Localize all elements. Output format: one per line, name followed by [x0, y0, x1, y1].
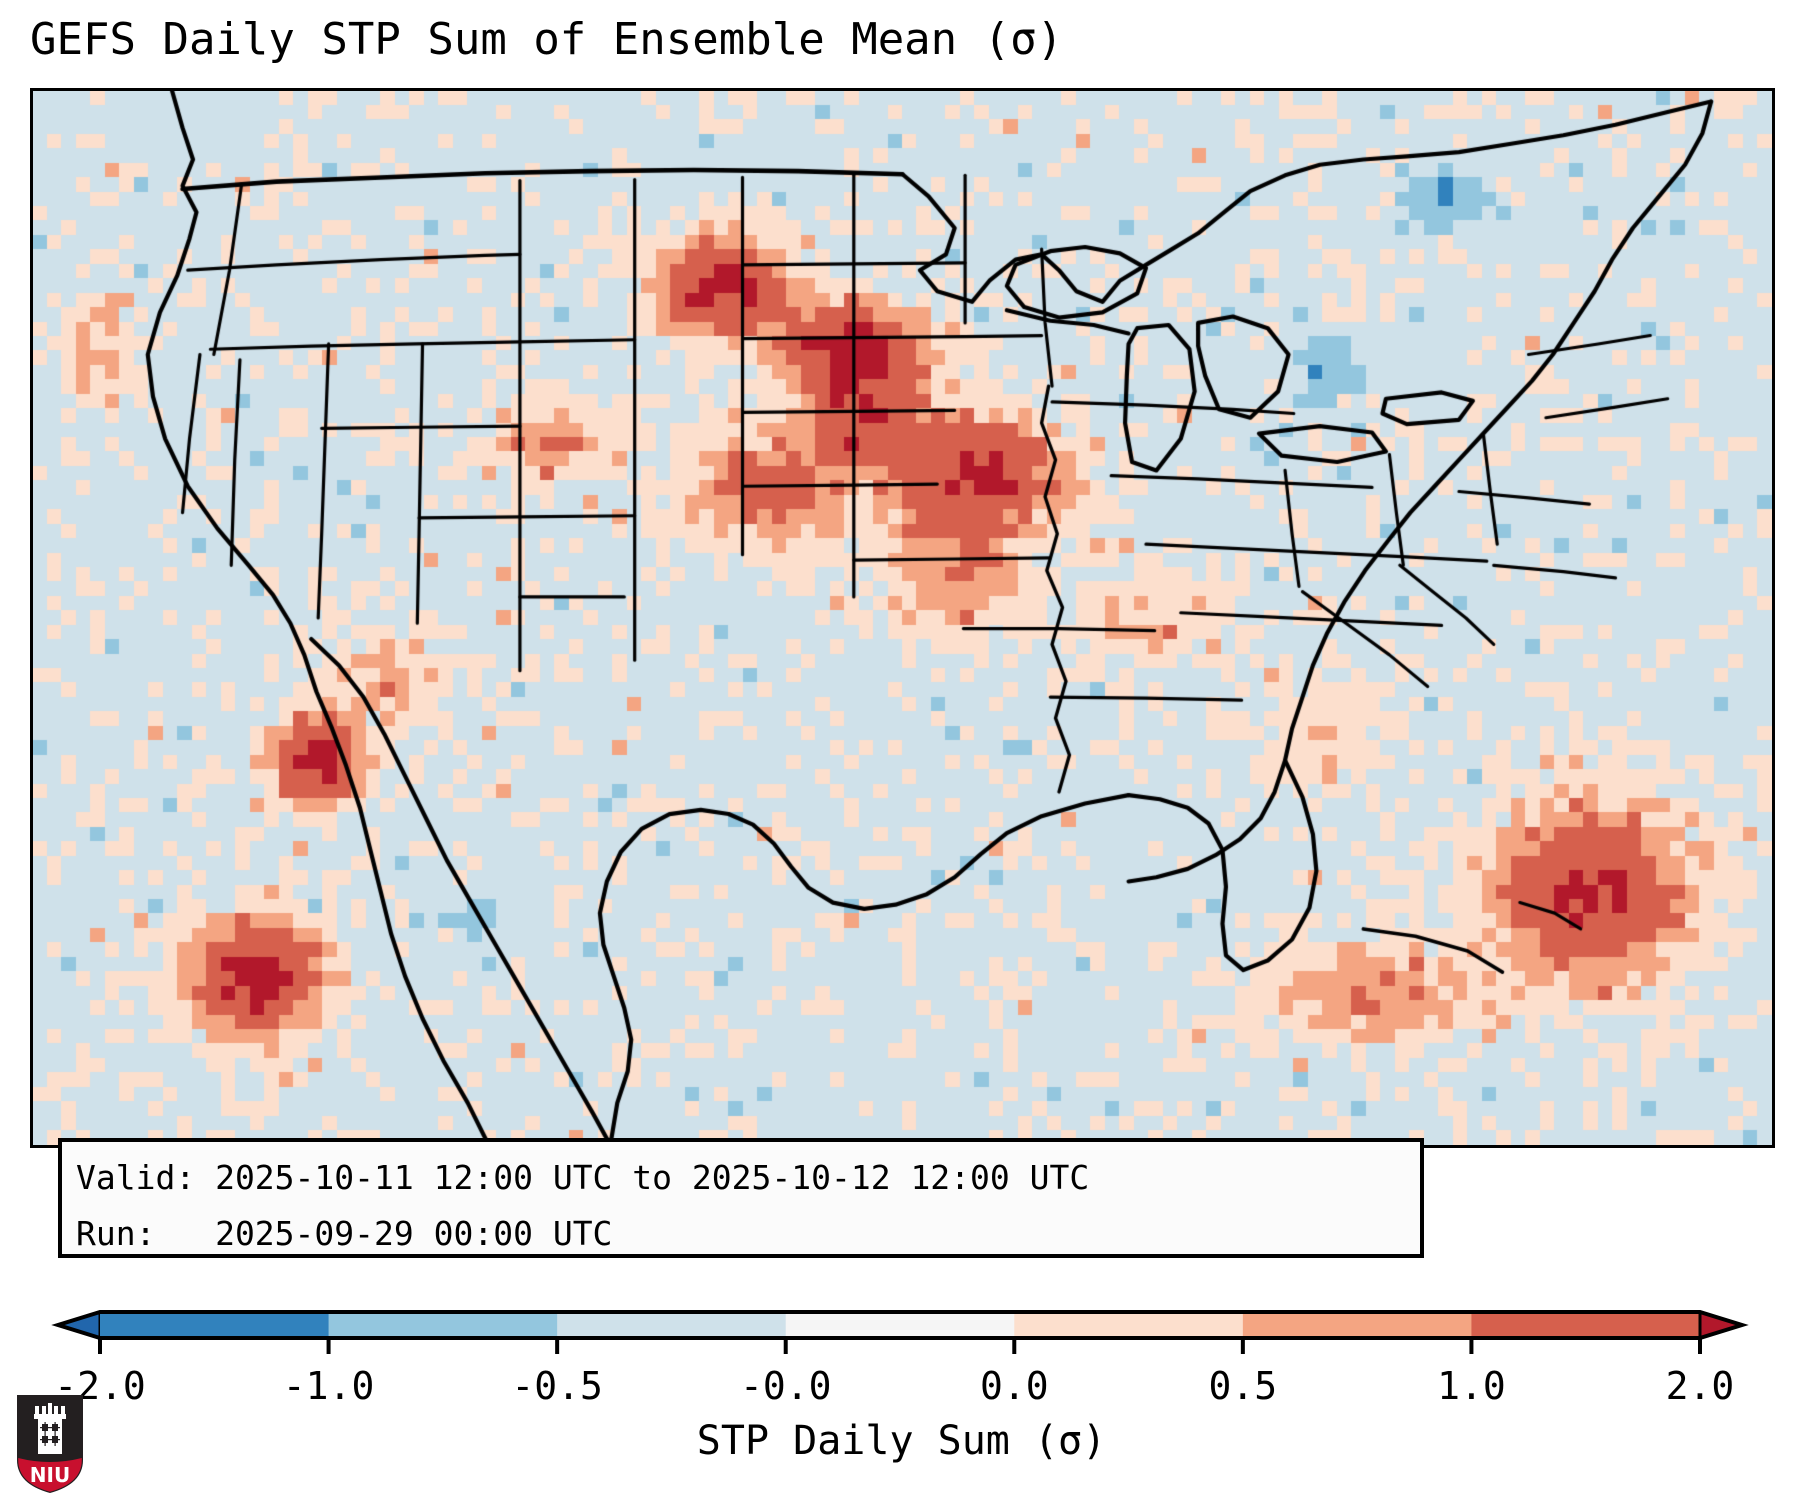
castle-tower-icon: [34, 1403, 66, 1454]
niu-wordmark: NIU: [30, 1463, 70, 1487]
colorbar: -2.0-1.0-0.5-0.00.00.51.02.0: [0, 1300, 1803, 1510]
colorbar-tick-7: 2.0: [1666, 1364, 1735, 1408]
stp-heatmap-layer: [33, 91, 1772, 1145]
colorbar-tick-6: 1.0: [1437, 1364, 1506, 1408]
colorbar-label: STP Daily Sum (σ): [0, 1418, 1803, 1464]
forecast-info-box: Valid: 2025-10-11 12:00 UTC to 2025-10-1…: [58, 1138, 1424, 1258]
colorbar-swatches: [0, 1300, 1803, 1430]
page-title: GEFS Daily STP Sum of Ensemble Mean (σ): [30, 14, 1790, 76]
colorbar-tick-1: -1.0: [283, 1364, 375, 1408]
niu-logo: NIU: [14, 1392, 86, 1496]
valid-time-line: Valid: 2025-10-11 12:00 UTC to 2025-10-1…: [76, 1150, 1406, 1206]
colorbar-tick-5: 0.5: [1209, 1364, 1278, 1408]
colorbar-tick-2: -0.5: [511, 1364, 603, 1408]
map-panel: [30, 88, 1775, 1148]
colorbar-tick-3: -0.0: [740, 1364, 832, 1408]
colorbar-tick-4: 0.0: [980, 1364, 1049, 1408]
run-time-line: Run: 2025-09-29 00:00 UTC: [76, 1206, 1406, 1262]
